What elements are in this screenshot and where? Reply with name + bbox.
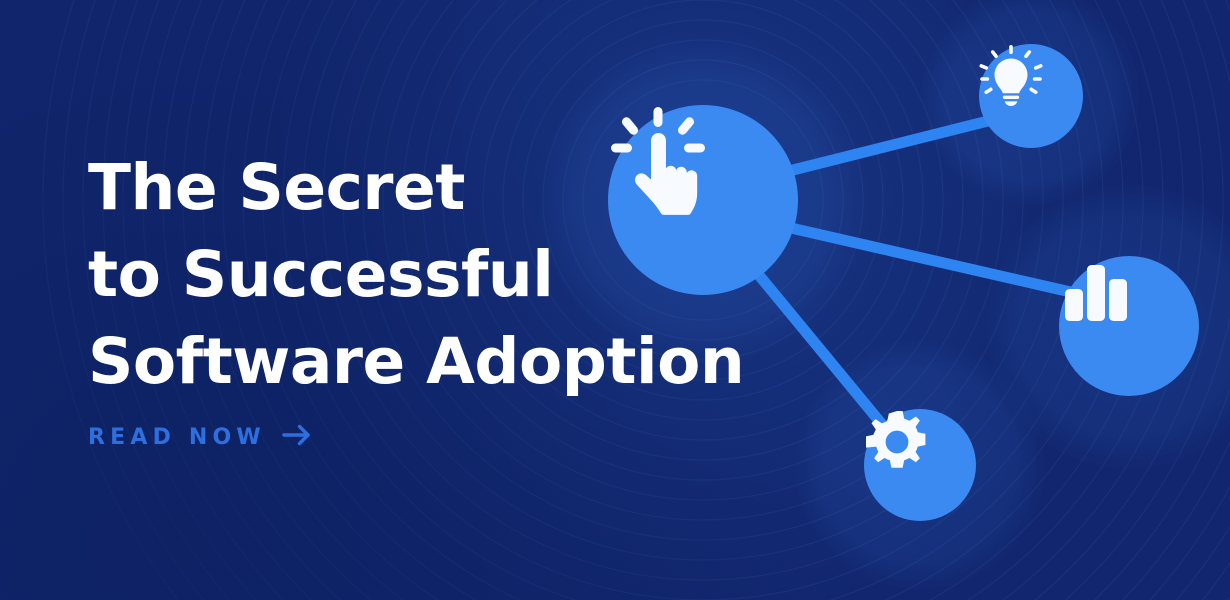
gear-node[interactable] <box>864 409 976 521</box>
read-now-link[interactable]: READ NOW <box>88 424 312 451</box>
text-content: The Secret to Successful Software Adopti… <box>88 0 608 600</box>
read-now-label: READ NOW <box>88 425 266 450</box>
edge-cursor-to-lightbulb <box>793 118 1000 170</box>
bar-2 <box>1087 265 1105 321</box>
lightbulb-node[interactable] <box>979 44 1083 148</box>
headline-line-2: to Successful <box>88 231 608 318</box>
edge-cursor-to-gear <box>758 274 885 428</box>
bar-3 <box>1109 279 1127 321</box>
promo-banner: The Secret to Successful Software Adopti… <box>0 0 1230 600</box>
page-title: The Secret to Successful Software Adopti… <box>88 144 608 405</box>
bar-1 <box>1065 289 1083 321</box>
headline-line-1: The Secret <box>88 144 608 231</box>
arrow-right-icon <box>282 424 312 451</box>
edge-cursor-to-bar-chart <box>791 228 1075 293</box>
cursor-node[interactable] <box>608 105 798 295</box>
headline-line-3: Software Adoption <box>88 318 608 405</box>
bar-chart-node[interactable] <box>1059 256 1199 396</box>
